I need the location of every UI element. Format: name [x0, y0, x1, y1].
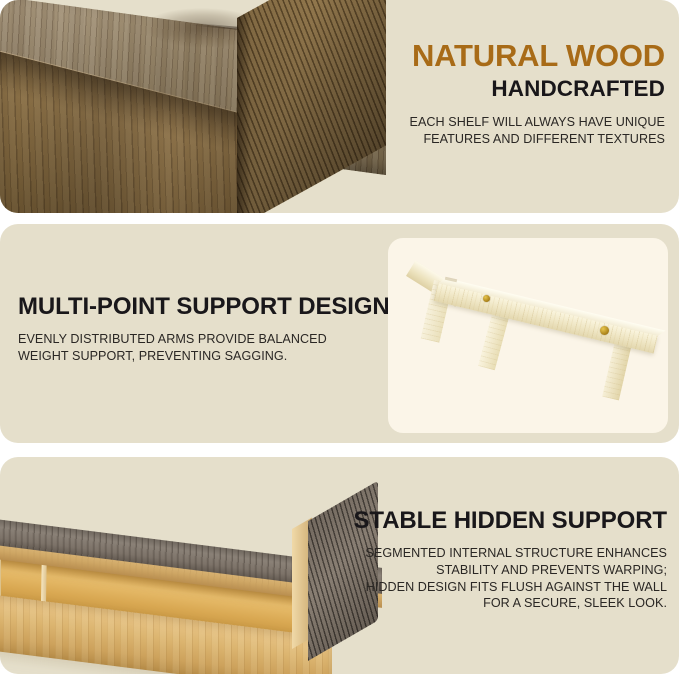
body-line: FEATURES AND DIFFERENT TEXTURES [235, 131, 665, 148]
stable-hidden-body: SEGMENTED INTERNAL STRUCTURE ENHANCES ST… [267, 545, 667, 612]
stable-hidden-heading: STABLE HIDDEN SUPPORT [267, 508, 667, 533]
body-line: HIDDEN DESIGN FITS FLUSH AGAINST THE WAL… [267, 579, 667, 596]
brass-screw-icon [483, 295, 490, 302]
plank-face [478, 310, 509, 370]
stable-hidden-text-block: STABLE HIDDEN SUPPORT SEGMENTED INTERNAL… [267, 508, 667, 612]
infographic-sheet: NATURAL WOOD HANDCRAFTED EACH SHELF WILL… [0, 0, 679, 674]
brass-screw-icon [600, 326, 609, 335]
wood-bracket-photo [388, 238, 668, 433]
multi-point-text-block: MULTI-POINT SUPPORT DESIGN EVENLY DISTRI… [18, 294, 378, 365]
natural-wood-text-block: NATURAL WOOD HANDCRAFTED EACH SHELF WILL… [235, 40, 665, 148]
body-line: FOR A SECURE, SLEEK LOOK. [267, 595, 667, 612]
body-line: STABILITY AND PREVENTS WARPING; [267, 562, 667, 579]
panel-natural-wood: NATURAL WOOD HANDCRAFTED EACH SHELF WILL… [0, 0, 679, 213]
body-line: SEGMENTED INTERNAL STRUCTURE ENHANCES [267, 545, 667, 562]
body-line: EACH SHELF WILL ALWAYS HAVE UNIQUE [235, 114, 665, 131]
plank-face [434, 282, 658, 353]
natural-wood-kicker: NATURAL WOOD [235, 40, 665, 72]
natural-wood-subheading: HANDCRAFTED [235, 77, 665, 101]
body-line: WEIGHT SUPPORT, PREVENTING SAGGING. [18, 348, 378, 365]
multi-point-heading: MULTI-POINT SUPPORT DESIGN [18, 294, 378, 319]
bracket-middle-leg [478, 310, 509, 370]
multi-point-body: EVENLY DISTRIBUTED ARMS PROVIDE BALANCED… [18, 331, 378, 364]
body-line: EVENLY DISTRIBUTED ARMS PROVIDE BALANCED [18, 331, 378, 348]
natural-wood-body: EACH SHELF WILL ALWAYS HAVE UNIQUE FEATU… [235, 114, 665, 147]
bracket-inset-card [388, 238, 668, 433]
bracket-long-arm [434, 282, 658, 353]
